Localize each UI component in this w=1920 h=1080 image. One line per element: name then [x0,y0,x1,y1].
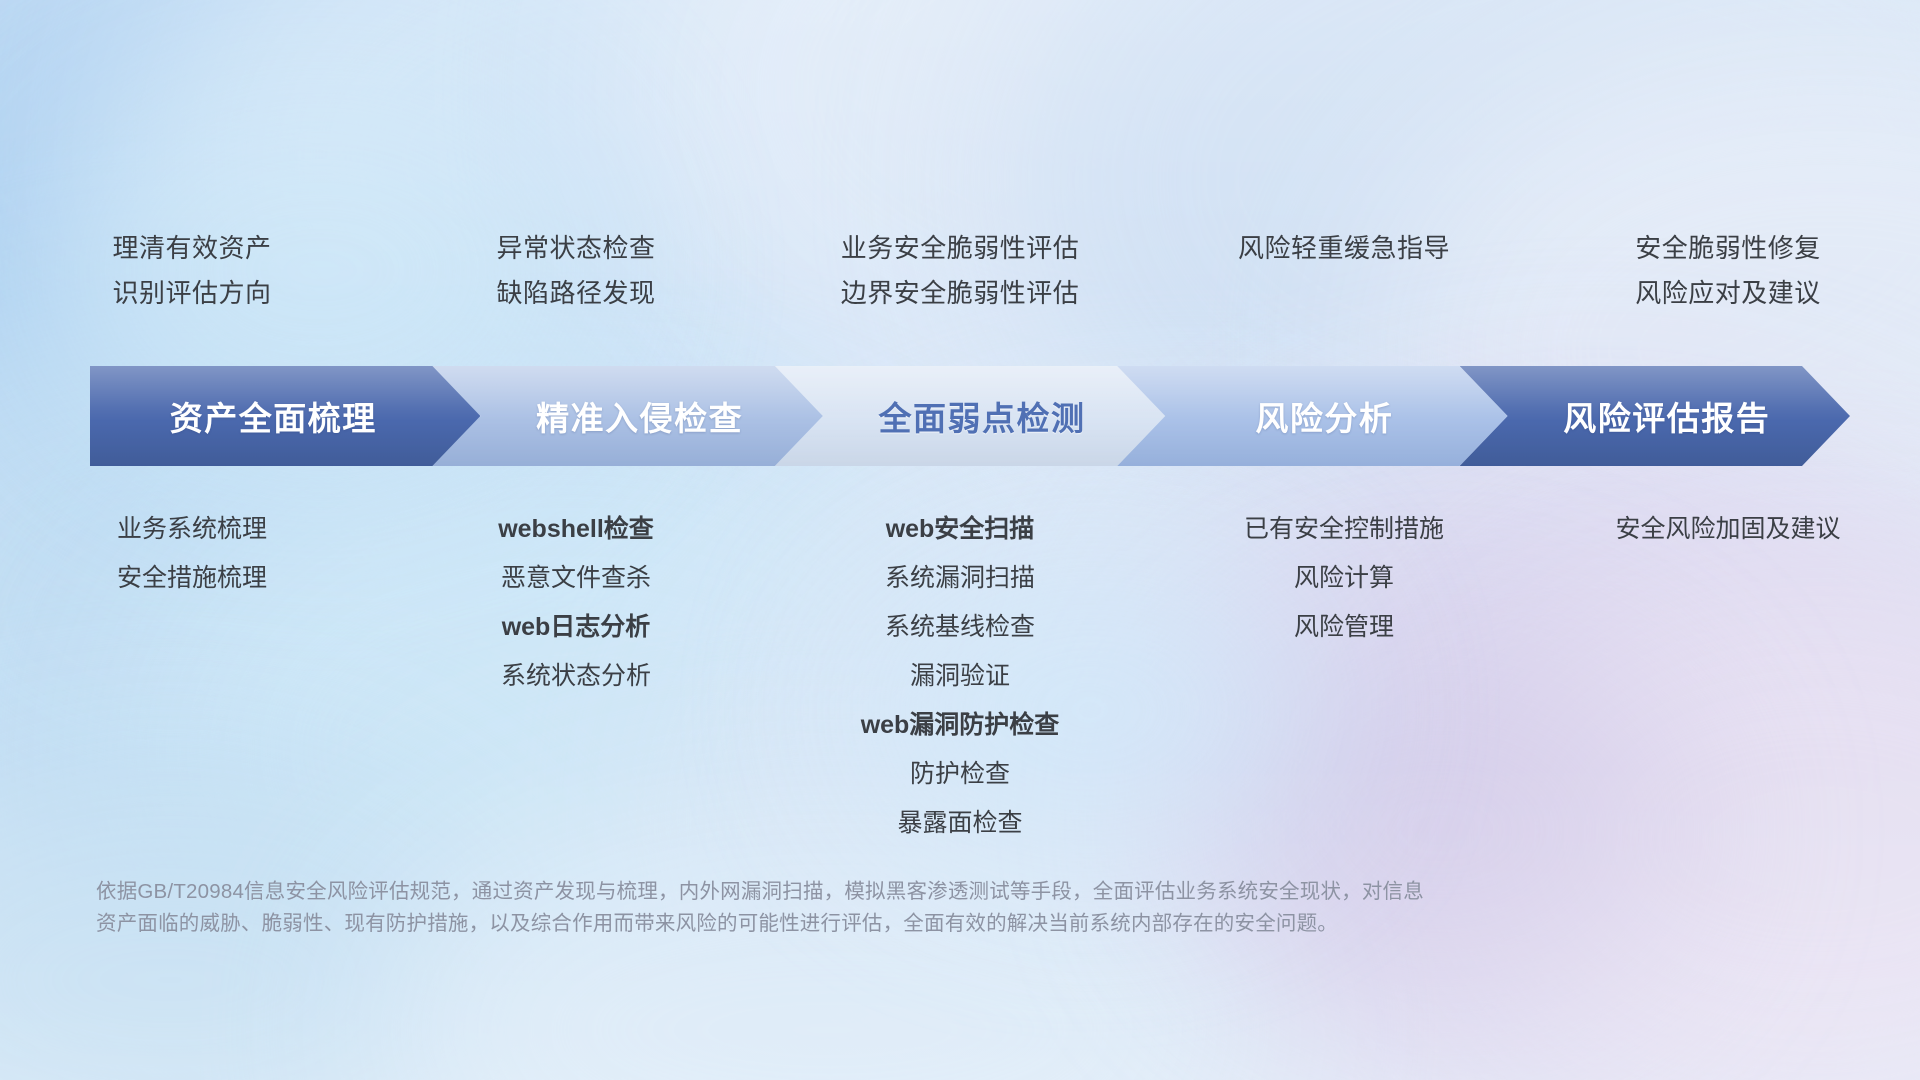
footer-line-2: 资产面临的威胁、脆弱性、现有防护措施，以及综合作用而带来风险的可能性进行评估，全… [96,908,1836,940]
process-step-1[interactable]: 资产全面梳理 [90,366,480,466]
top-label-text: 安全脆弱性修复 [1536,226,1920,271]
detail-column: 已有安全控制措施风险计算风险管理 [1152,505,1536,652]
detail-item: 安全风险加固及建议 [1536,505,1920,554]
top-label-column: 风险轻重缓急指导 [1152,226,1536,336]
process-step-2[interactable]: 精准入侵检查 [432,366,822,466]
top-label-text: 业务安全脆弱性评估 [768,226,1152,271]
detail-item: 已有安全控制措施 [1152,505,1536,554]
top-label-column: 业务安全脆弱性评估边界安全脆弱性评估 [768,226,1152,336]
process-step-label: 资产全面梳理 [170,392,377,440]
detail-item: 恶意文件查杀 [384,554,768,603]
detail-column: web安全扫描系统漏洞扫描系统基线检查漏洞验证web漏洞防护检查防护检查暴露面检… [768,505,1152,848]
detail-item: 漏洞验证 [768,652,1152,701]
footer-description: 依据GB/T20984信息安全风险评估规范，通过资产发现与梳理，内外网漏洞扫描，… [96,876,1836,940]
top-label-text: 风险应对及建议 [1536,271,1920,316]
detail-item: webshell检查 [384,505,768,554]
top-label-row: 理清有效资产识别评估方向异常状态检查缺陷路径发现业务安全脆弱性评估边界安全脆弱性… [0,226,1920,336]
top-label-column: 理清有效资产识别评估方向 [0,226,384,336]
detail-item: web漏洞防护检查 [768,701,1152,750]
detail-item: 系统状态分析 [384,652,768,701]
detail-item: 风险计算 [1152,554,1536,603]
detail-column: webshell检查恶意文件查杀web日志分析系统状态分析 [384,505,768,701]
detail-item: 安全措施梳理 [0,554,384,603]
detail-column: 安全风险加固及建议 [1536,505,1920,554]
process-step-label: 全面弱点检测 [878,392,1085,440]
top-label-text: 风险轻重缓急指导 [1152,226,1536,271]
top-label-column: 安全脆弱性修复风险应对及建议 [1536,226,1920,336]
detail-item: 风险管理 [1152,603,1536,652]
top-label-text: 理清有效资产 [0,226,384,271]
detail-item: 暴露面检查 [768,799,1152,848]
process-chevron-bar: 资产全面梳理精准入侵检查全面弱点检测风险分析风险评估报告 [90,366,1850,466]
top-label-text: 识别评估方向 [0,271,384,316]
detail-item: 业务系统梳理 [0,505,384,554]
process-diagram: 理清有效资产识别评估方向异常状态检查缺陷路径发现业务安全脆弱性评估边界安全脆弱性… [0,0,1920,1080]
detail-item: 系统漏洞扫描 [768,554,1152,603]
top-label-text: 边界安全脆弱性评估 [768,271,1152,316]
footer-line-1: 依据GB/T20984信息安全风险评估规范，通过资产发现与梳理，内外网漏洞扫描，… [96,876,1836,908]
detail-item: web安全扫描 [768,505,1152,554]
process-step-label: 风险分析 [1255,392,1393,440]
detail-column: 业务系统梳理安全措施梳理 [0,505,384,603]
detail-item: 系统基线检查 [768,603,1152,652]
top-label-text: 缺陷路径发现 [384,271,768,316]
detail-item: web日志分析 [384,603,768,652]
process-step-label: 精准入侵检查 [536,392,743,440]
detail-column-row: 业务系统梳理安全措施梳理webshell检查恶意文件查杀web日志分析系统状态分… [0,505,1920,848]
top-label-column: 异常状态检查缺陷路径发现 [384,226,768,336]
top-label-text: 异常状态检查 [384,226,768,271]
detail-item: 防护检查 [768,750,1152,799]
process-step-3[interactable]: 全面弱点检测 [775,366,1165,466]
process-step-4[interactable]: 风险分析 [1117,366,1507,466]
process-step-label: 风险评估报告 [1563,392,1770,440]
process-step-5[interactable]: 风险评估报告 [1460,366,1850,466]
